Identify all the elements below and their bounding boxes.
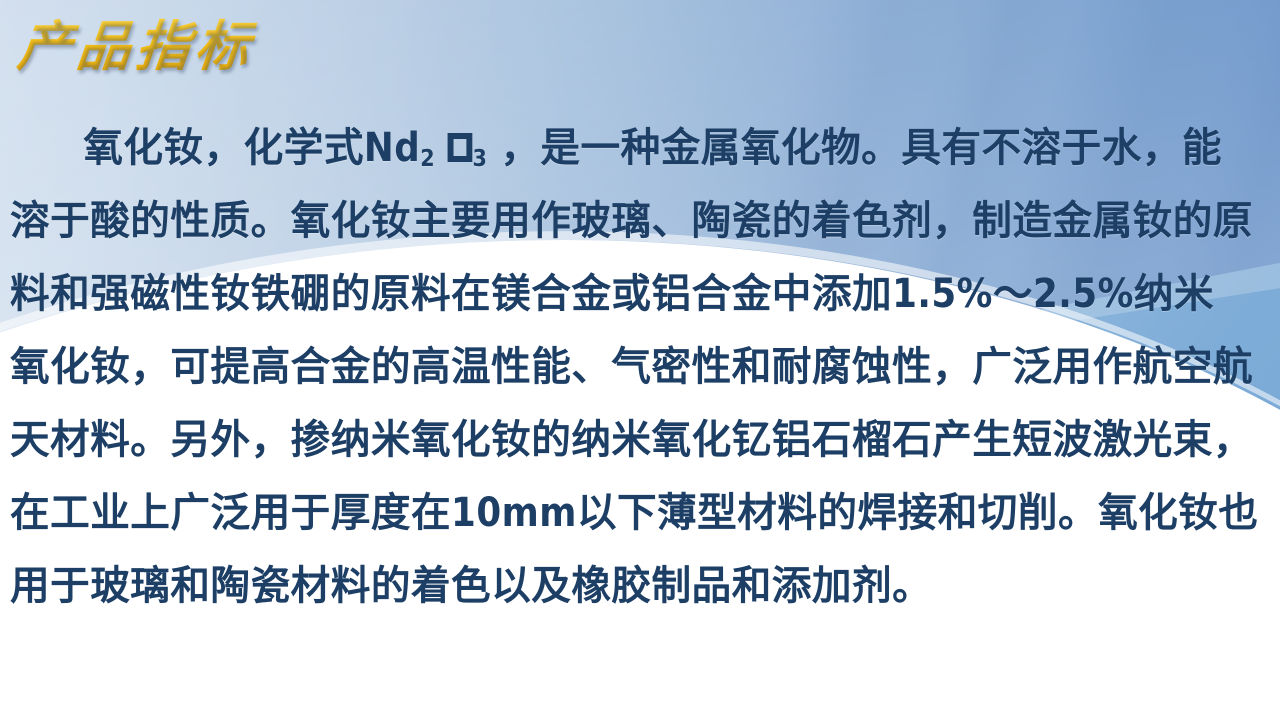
body-line: 氧化钕，可提高合金的高温性能、气密性和耐腐蚀性，广泛用作航空航 [10,331,1259,404]
body-line: 用于玻璃和陶瓷材料的着色以及橡胶制品和添加剂。 [10,550,1259,623]
body-line-segment: 氧化钕，化学式Nd [83,125,420,171]
body-line: 天材料。另外，掺纳米氧化钕的纳米氧化钇铝石榴石产生短波激光束， [10,404,1259,477]
body-line-segment: ，是一种金属氧化物。具有不溶于水，能 [487,125,1222,171]
body-paragraph: 氧化钕，化学式Nd2 3 ，是一种金属氧化物。具有不溶于水，能 溶于酸的性质。氧… [10,112,1272,623]
oxygen-box-glyph [448,133,473,163]
body-line: 氧化钕，化学式Nd2 3 ，是一种金属氧化物。具有不溶于水，能 [10,112,1259,185]
body-line: 在工业上广泛用于厚度在10mm以下薄型材料的焊接和切削。氧化钕也 [10,477,1259,550]
slide-canvas: 产品指标 氧化钕，化学式Nd2 3 ，是一种金属氧化物。具有不溶于水，能 溶于酸… [0,0,1280,720]
subscript-3: 3 [473,145,488,172]
formula-gap [435,125,448,171]
page-title: 产品指标 [18,8,438,88]
body-line: 料和强磁性钕铁硼的原料在镁合金或铝合金中添加1.5%～2.5%纳米 [10,258,1259,331]
page-title-text: 产品指标 [14,8,442,84]
body-line: 溶于酸的性质。氧化钕主要用作玻璃、陶瓷的着色剂，制造金属钕的原 [10,185,1259,258]
subscript-2: 2 [420,145,435,172]
